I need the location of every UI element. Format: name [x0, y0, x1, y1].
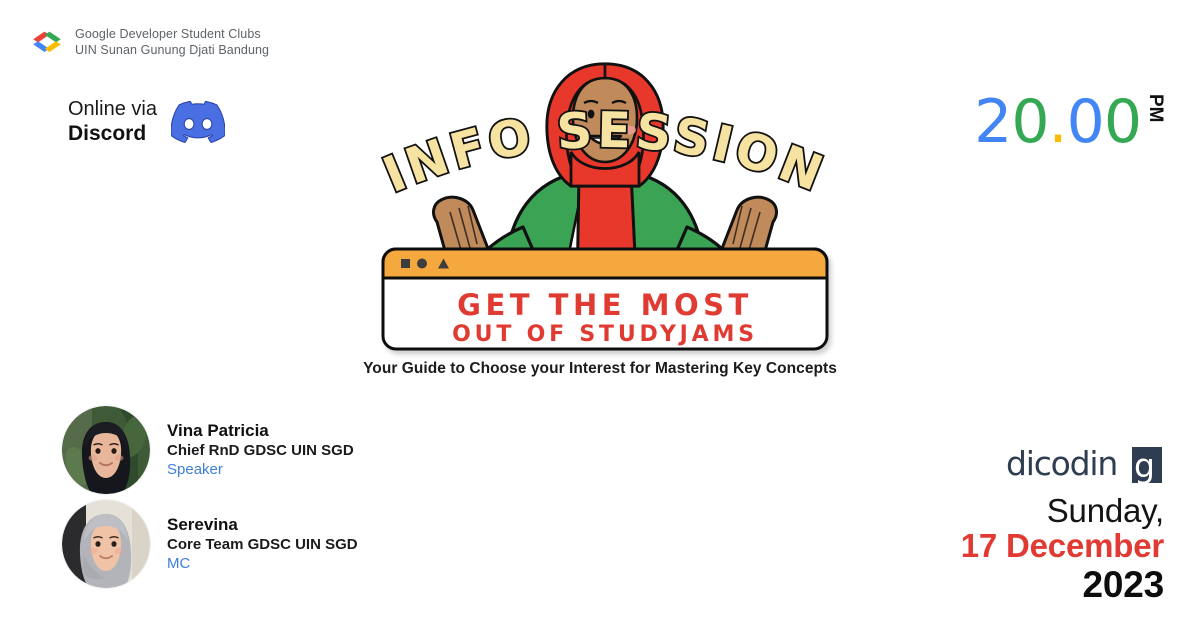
window-circle-icon	[417, 259, 427, 269]
time-digit-0: 2	[974, 92, 1011, 152]
hero-artwork-svg: INFO SESSION GET THE MOST OUT OF STUDYJA…	[355, 52, 855, 362]
platform-text: Online via Discord	[68, 98, 157, 146]
time-digit-3: 0	[1067, 92, 1104, 152]
speaker-role: Chief RnD GDSC UIN SGD	[167, 442, 354, 461]
event-date-main: 17 December	[961, 528, 1164, 565]
avatar	[62, 406, 150, 494]
speaker-name: Serevina	[167, 514, 358, 535]
hero-illustration: INFO SESSION GET THE MOST OUT OF STUDYJA…	[355, 52, 855, 362]
platform-block: Online via Discord	[68, 98, 225, 146]
speaker-role: Core Team GDSC UIN SGD	[167, 536, 358, 555]
gdsc-brand-lockup: Google Developer Student Clubs UIN Sunan…	[30, 26, 269, 58]
gdsc-line-1: Google Developer Student Clubs	[75, 26, 269, 42]
card-line-2: OUT OF STUDYJAMS	[452, 322, 758, 347]
gdsc-line-2: UIN Sunan Gunung Djati Bandung	[75, 42, 269, 58]
time-meridiem: PM	[1144, 94, 1166, 123]
event-date-day: Sunday,	[961, 493, 1164, 529]
dicoding-logo: dicodin g	[1006, 444, 1164, 486]
discord-icon	[171, 101, 225, 143]
avatar-photo-serevina	[62, 500, 150, 588]
time-digit-2: .	[1049, 92, 1067, 152]
speaker-info: Serevina Core Team GDSC UIN SGD MC	[167, 514, 358, 573]
event-time-block: 20.00 PM	[974, 92, 1166, 152]
event-date-year: 2023	[961, 565, 1164, 606]
platform-prefix: Online via	[68, 98, 157, 122]
speaker-name: Vina Patricia	[167, 420, 354, 441]
time-digit-1: 0	[1011, 92, 1048, 152]
speaker-tag: Speaker	[167, 461, 354, 480]
window-square-icon	[401, 259, 410, 268]
speaker-info: Vina Patricia Chief RnD GDSC UIN SGD Spe…	[167, 420, 354, 479]
avatar-photo-vina	[62, 406, 150, 494]
svg-text:dicodin: dicodin	[1006, 444, 1117, 483]
platform-name: Discord	[68, 122, 157, 147]
speaker-card: Serevina Core Team GDSC UIN SGD MC	[62, 500, 358, 588]
speaker-card: Vina Patricia Chief RnD GDSC UIN SGD Spe…	[62, 406, 354, 494]
gdsc-brand-text: Google Developer Student Clubs UIN Sunan…	[75, 26, 269, 58]
footer-block: dicodin g Sunday, 17 December 2023	[961, 444, 1164, 606]
event-time-value: 20.00	[974, 92, 1141, 152]
svg-text:g: g	[1134, 446, 1154, 485]
time-digit-4: 0	[1104, 92, 1141, 152]
avatar	[62, 500, 150, 588]
card-line-1: GET THE MOST	[457, 288, 753, 322]
speaker-tag: MC	[167, 555, 358, 574]
browser-window-card: GET THE MOST OUT OF STUDYJAMS	[383, 249, 827, 349]
gdsc-chevron-logo-icon	[30, 30, 64, 54]
hero-subtitle: Your Guide to Choose your Interest for M…	[0, 360, 1200, 378]
